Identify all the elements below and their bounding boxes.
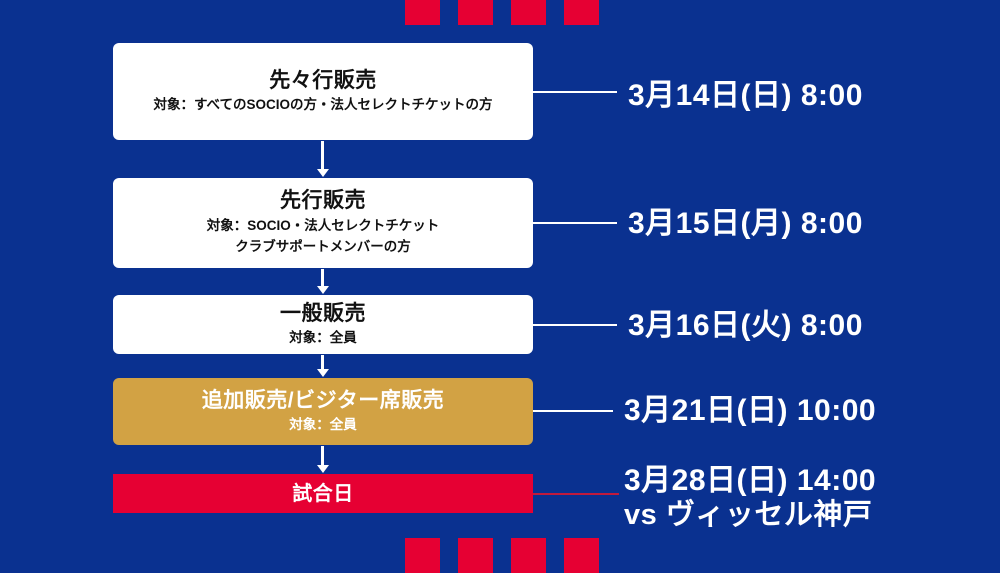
decorative-red-bar: [458, 0, 493, 25]
step-title: 一般販売: [280, 302, 366, 327]
step-title: 試合日: [292, 482, 354, 506]
step-subtitle: 対象：すべてのSOCIOの方・法人セレクトチケットの方: [153, 95, 492, 114]
step-title: 追加販売/ビジター席販売: [202, 389, 444, 414]
ticket-sales-timeline-poster: 先々行販売 対象：すべてのSOCIOの方・法人セレクトチケットの方 3月14日(…: [0, 0, 1000, 563]
date-label-tsuika-visitor-hanbai: 3月21日(日) 10:00: [624, 394, 876, 428]
step-subtitle: 対象：全員: [289, 328, 357, 347]
decorative-red-bar: [564, 538, 599, 573]
step-title: 先々行販売: [269, 69, 377, 94]
decorative-red-bar: [458, 538, 493, 573]
timeline-step-senkou-hanbai: 先行販売 対象：SOCIO・法人セレクトチケット クラブサポートメンバーの方: [113, 178, 533, 268]
connector-line-horizontal: [533, 91, 617, 93]
date-primary: 3月28日(日) 14:00: [624, 464, 876, 498]
date-label-sakisaki-senhanbai: 3月14日(日) 8:00: [628, 79, 863, 113]
decorative-red-bar: [564, 0, 599, 25]
timeline-step-shiaibi: 試合日: [113, 474, 533, 513]
date-primary: 3月14日(日) 8:00: [628, 79, 863, 113]
date-opponent: vs ヴィッセル神戸: [624, 498, 876, 532]
step-subtitle: 対象：SOCIO・法人セレクトチケット: [207, 216, 440, 235]
timeline-step-tsuika-visitor-hanbai: 追加販売/ビジター席販売 対象：全員: [113, 378, 533, 445]
connector-arrow-down: [321, 355, 324, 370]
decorative-red-bar: [511, 538, 546, 573]
connector-arrow-down: [321, 141, 324, 170]
date-primary: 3月16日(火) 8:00: [628, 309, 863, 343]
top-decorative-bar-row: [405, 0, 599, 25]
decorative-red-bar: [511, 0, 546, 25]
date-primary: 3月21日(日) 10:00: [624, 394, 876, 428]
decorative-red-bar: [405, 538, 440, 573]
date-label-senkou-hanbai: 3月15日(月) 8:00: [628, 207, 863, 241]
connector-arrow-down: [321, 446, 324, 466]
timeline-step-ippan-hanbai: 一般販売 対象：全員: [113, 295, 533, 354]
date-label-shiaibi: 3月28日(日) 14:00 vs ヴィッセル神戸: [624, 464, 876, 532]
connector-line-horizontal: [533, 410, 613, 412]
connector-arrow-down: [321, 269, 324, 287]
step-subtitle-line2: クラブサポートメンバーの方: [235, 237, 411, 256]
timeline-step-sakisaki-senhanbai: 先々行販売 対象：すべてのSOCIOの方・法人セレクトチケットの方: [113, 43, 533, 140]
date-label-ippan-hanbai: 3月16日(火) 8:00: [628, 309, 863, 343]
connector-line-horizontal: [533, 222, 617, 224]
connector-line-horizontal: [533, 493, 619, 495]
step-subtitle: 対象：全員: [289, 415, 357, 434]
decorative-red-bar: [405, 0, 440, 25]
step-title: 先行販売: [280, 189, 366, 214]
connector-line-horizontal: [533, 324, 617, 326]
bottom-decorative-bar-row: [405, 538, 599, 573]
date-primary: 3月15日(月) 8:00: [628, 207, 863, 241]
